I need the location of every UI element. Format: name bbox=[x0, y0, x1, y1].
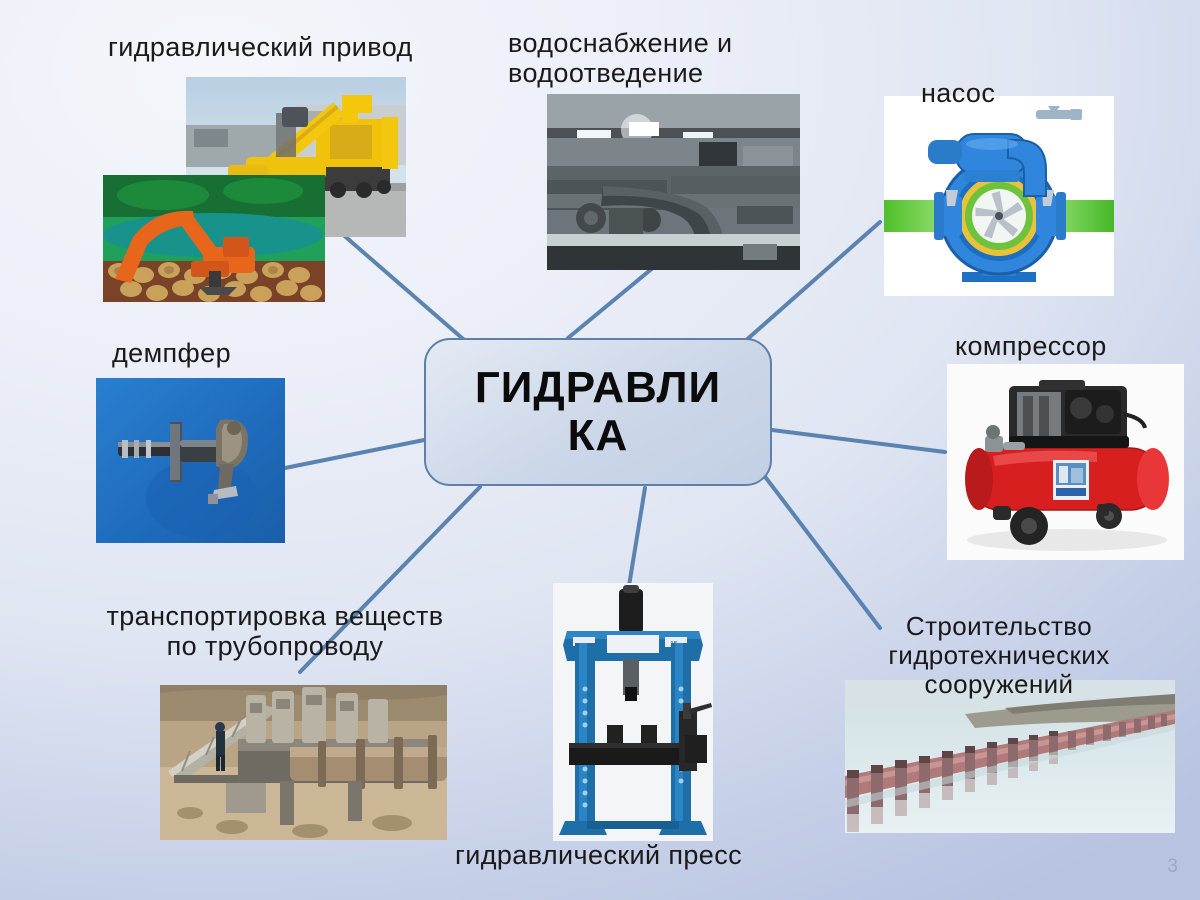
center-node-label: ГИДРАВЛИ КА bbox=[475, 364, 721, 459]
connector-to-hydraulic-drive bbox=[340, 232, 470, 345]
connector-to-damper bbox=[285, 440, 424, 468]
image-hydraulic-press: 15 bbox=[553, 583, 713, 841]
slide-canvas: 15 bbox=[0, 0, 1200, 900]
image-pipeline-transport bbox=[160, 685, 447, 840]
label-hydraulic-drive: гидравлический привод bbox=[108, 32, 413, 62]
center-node-hydraulics[interactable]: ГИДРАВЛИ КА bbox=[424, 338, 772, 486]
label-water-supply: водоснабжение и водоотведение bbox=[508, 28, 733, 88]
label-compressor: компрессор bbox=[955, 331, 1107, 361]
image-hydraulic-structures-dam bbox=[845, 680, 1175, 833]
label-pipeline-transport: транспортировка веществ по трубопроводу bbox=[60, 601, 490, 661]
connector-to-hydraulic-structures bbox=[760, 470, 880, 628]
image-compressor bbox=[947, 364, 1184, 560]
label-hydraulic-press: гидравлический пресс bbox=[455, 840, 742, 870]
image-water-supply-plant bbox=[547, 94, 800, 270]
image-damper bbox=[96, 378, 285, 543]
image-hydraulic-drive-excavator bbox=[103, 175, 325, 302]
connector-to-compressor bbox=[772, 430, 945, 452]
label-pump: насос bbox=[921, 78, 995, 108]
page-number: 3 bbox=[1167, 856, 1178, 878]
connector-to-hydraulic-press bbox=[628, 488, 645, 592]
label-damper: демпфер bbox=[112, 338, 231, 368]
label-hydraulic-structures: Строительство гидротехнических сооружени… bbox=[849, 612, 1149, 699]
image-pump bbox=[884, 96, 1114, 296]
connector-to-water-supply bbox=[568, 262, 660, 338]
